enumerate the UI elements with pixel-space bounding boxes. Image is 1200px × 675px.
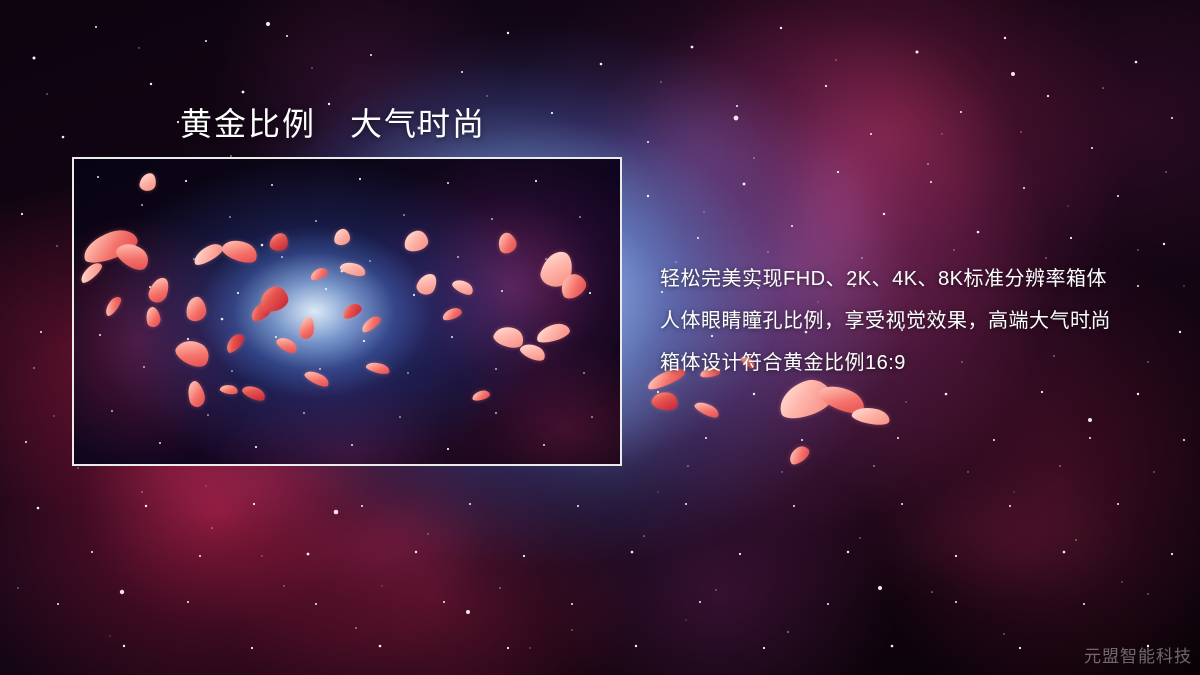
watermark: 元盟智能科技 xyxy=(1084,642,1192,667)
body-text-block: 轻松完美实现FHD、2K、4K、8K标准分辨率箱体 人体眼睛瞳孔比例，享受视觉效… xyxy=(660,258,1180,384)
body-line: 人体眼睛瞳孔比例，享受视觉效果，高端大气时尚 xyxy=(660,300,1180,342)
body-line: 箱体设计符合黄金比例16:9 xyxy=(660,342,1180,384)
page-title: 黄金比例 大气时尚 xyxy=(180,99,486,145)
presentation-slide: 黄金比例 大气时尚 轻松完美实现FHD、2K、4K、8K标准分辨率箱体 人体眼睛… xyxy=(0,0,1200,675)
body-line: 轻松完美实现FHD、2K、4K、8K标准分辨率箱体 xyxy=(660,258,1180,300)
framed-image xyxy=(72,157,622,466)
